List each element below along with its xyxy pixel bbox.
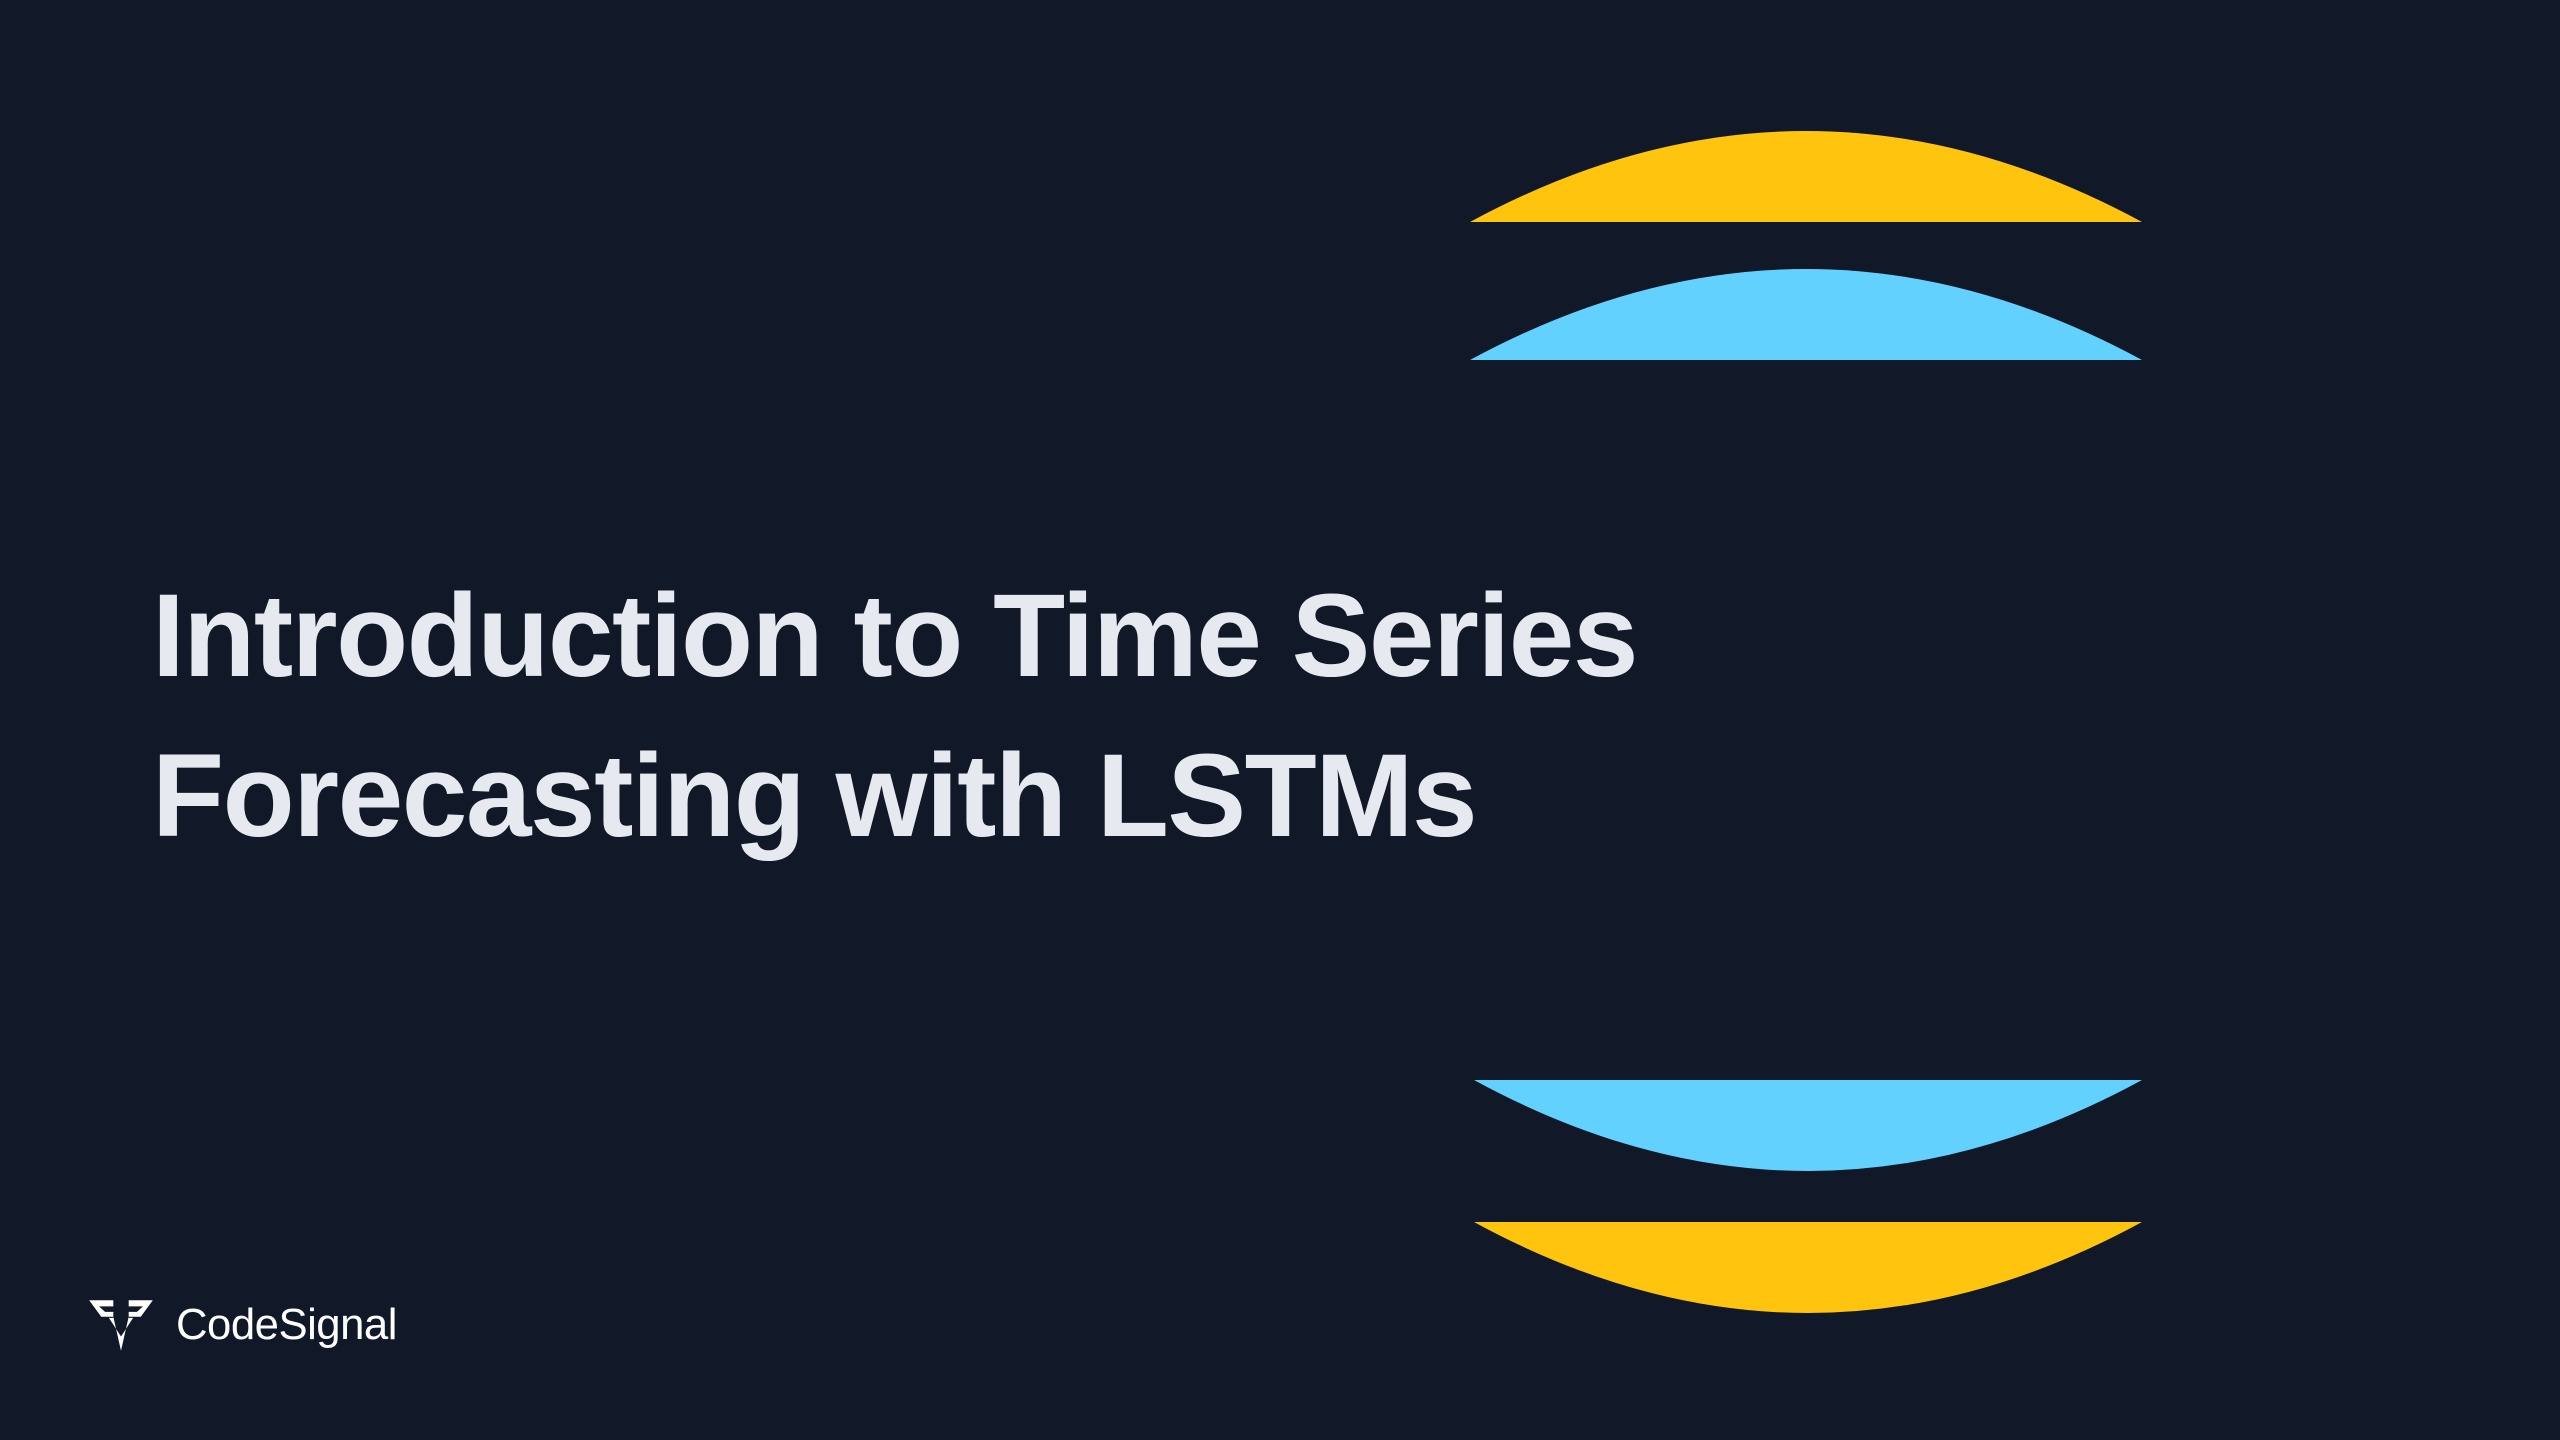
codesignal-wordmark: CodeSignal [176, 1301, 474, 1349]
bowl-arc-down-icon-yellow [1474, 1222, 2142, 1313]
page-title: Introduction to Time Series Forecasting … [152, 556, 1852, 877]
dome-arc-up-icon-yellow [1470, 131, 2142, 222]
title-block: Introduction to Time Series Forecasting … [152, 556, 1852, 877]
codesignal-wing-icon [88, 1297, 154, 1353]
dome-arc-up-icon-blue [1470, 269, 2142, 360]
decoration-top-right-domes [1470, 82, 2142, 360]
brand-logo: CodeSignal [88, 1292, 474, 1358]
presentation-slide: Introduction to Time Series Forecasting … [0, 0, 2560, 1440]
codesignal-wordmark-text: CodeSignal [176, 1301, 397, 1349]
decoration-bottom-right-bowls [1474, 1080, 2142, 1360]
bowl-arc-down-icon-blue [1474, 1080, 2142, 1171]
